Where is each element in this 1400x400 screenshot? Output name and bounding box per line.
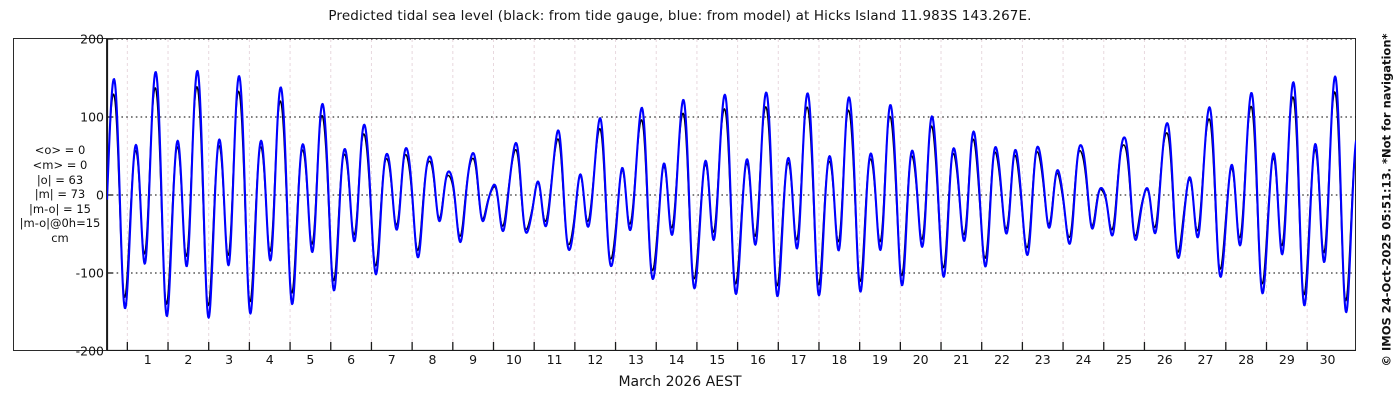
stat-mean-observed: <o> = 0 — [35, 143, 86, 158]
x-tick-label: 3 — [225, 352, 233, 367]
copyright-notice: © IMOS 24-Oct-2025 05:51:13. *Not for na… — [1376, 0, 1398, 400]
x-tick-label: 20 — [913, 352, 929, 367]
stat-units: cm — [51, 231, 69, 246]
stat-mean-model: <m> = 0 — [33, 158, 88, 173]
page-title: Predicted tidal sea level (black: from t… — [0, 8, 1360, 24]
y-tick-label: -100 — [76, 266, 104, 281]
y-tick-label: 100 — [80, 110, 104, 125]
x-tick-label: 14 — [669, 352, 685, 367]
x-tick-label: 22 — [994, 352, 1010, 367]
x-tick-label: 25 — [1116, 352, 1132, 367]
x-tick-label: 18 — [831, 352, 847, 367]
x-tick-label: 11 — [547, 352, 563, 367]
chart-root: Predicted tidal sea level (black: from t… — [0, 0, 1400, 400]
x-tick-label: 9 — [469, 352, 477, 367]
x-tick-label: 29 — [1279, 352, 1295, 367]
copyright-text: © IMOS 24-Oct-2025 05:51:13. *Not for na… — [1380, 33, 1394, 366]
x-tick-label: 8 — [428, 352, 436, 367]
x-tick-label: 6 — [347, 352, 355, 367]
x-tick-label: 13 — [628, 352, 644, 367]
x-tick-label: 28 — [1238, 352, 1254, 367]
x-tick-label: 15 — [709, 352, 725, 367]
x-tick-label: 2 — [184, 352, 192, 367]
x-tick-label: 17 — [791, 352, 807, 367]
plot-area: 2001000-100-200 123456789101112131415161… — [107, 39, 1356, 351]
x-tick-label: 19 — [872, 352, 888, 367]
y-tick-label: -200 — [76, 344, 104, 359]
x-tick-label: 30 — [1320, 352, 1336, 367]
x-tick-label: 21 — [953, 352, 969, 367]
x-tick-label: 16 — [750, 352, 766, 367]
x-tick-label: 4 — [266, 352, 274, 367]
x-tick-label: 1 — [144, 352, 152, 367]
x-tick-label: 26 — [1157, 352, 1173, 367]
x-tick-label: 10 — [506, 352, 522, 367]
stat-abs-diff-0h: |m-o|@0h=15 — [20, 216, 101, 231]
x-tick-label: 23 — [1035, 352, 1051, 367]
statistics-panel: <o> = 0 <m> = 0 |o| = 63 |m| = 73 |m-o| … — [14, 39, 107, 350]
tidal-plot — [107, 39, 1356, 351]
x-tick-label: 7 — [388, 352, 396, 367]
stat-abs-observed: |o| = 63 — [37, 173, 83, 188]
y-tick-label: 200 — [80, 32, 104, 47]
x-tick-label: 5 — [306, 352, 314, 367]
y-tick-label: 0 — [96, 188, 104, 203]
x-tick-label: 12 — [587, 352, 603, 367]
stat-abs-model: |m| = 73 — [35, 187, 86, 202]
x-axis-title: March 2026 AEST — [0, 374, 1360, 390]
x-tick-label: 24 — [1075, 352, 1091, 367]
x-tick-label: 27 — [1198, 352, 1214, 367]
stat-abs-diff: |m-o| = 15 — [29, 202, 91, 217]
